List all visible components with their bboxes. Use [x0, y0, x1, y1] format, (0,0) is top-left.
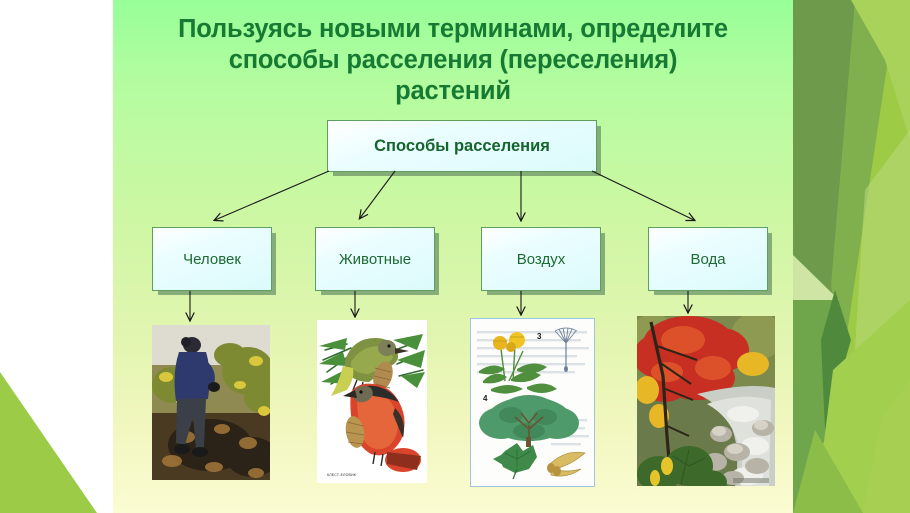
- figure-number-4: 4: [483, 394, 488, 403]
- diagram-root-box[interactable]: Способы расселения: [327, 120, 597, 172]
- left-triangle-decoration: [0, 372, 110, 513]
- slide-canvas: Пользуясь новыми терминами, определите с…: [0, 0, 910, 513]
- photo-textbook-dandelion-maple-seeds-image: 3: [471, 319, 594, 486]
- photo-crossbills-on-spruce-image: КЛЕСТ-ЕЛОВИК: [317, 320, 427, 483]
- photo-crossbills-on-spruce: КЛЕСТ-ЕЛОВИК: [317, 320, 427, 483]
- diagram-branch-label: Животные: [339, 251, 411, 268]
- diagram-branch-label: Воздух: [517, 251, 565, 268]
- diagram-branch-box-chelovek[interactable]: Человек: [152, 227, 272, 291]
- photo-caption: КЛЕСТ-ЕЛОВИК: [327, 473, 357, 477]
- diagram-root-label: Способы расселения: [374, 137, 550, 156]
- right-polygon-decoration: [793, 0, 910, 513]
- figure-number-3: 3: [537, 332, 542, 341]
- diagram-branch-box-zhivotnye[interactable]: Животные: [315, 227, 435, 291]
- diagram-branch-label: Вода: [690, 251, 725, 268]
- photo-person-harvesting-vineyard: [152, 325, 270, 480]
- page-title: Пользуясь новыми терминами, определите с…: [118, 14, 788, 107]
- diagram-branch-label: Человек: [183, 251, 241, 268]
- photo-autumn-forest-stream-image: [637, 316, 775, 486]
- photo-person-harvesting-vineyard-image: [152, 325, 270, 480]
- photo-autumn-forest-stream: [637, 316, 775, 486]
- photo-textbook-dandelion-maple-seeds: 3: [470, 318, 595, 487]
- diagram-branch-box-voda[interactable]: Вода: [648, 227, 768, 291]
- diagram-branch-box-vozduh[interactable]: Воздух: [481, 227, 601, 291]
